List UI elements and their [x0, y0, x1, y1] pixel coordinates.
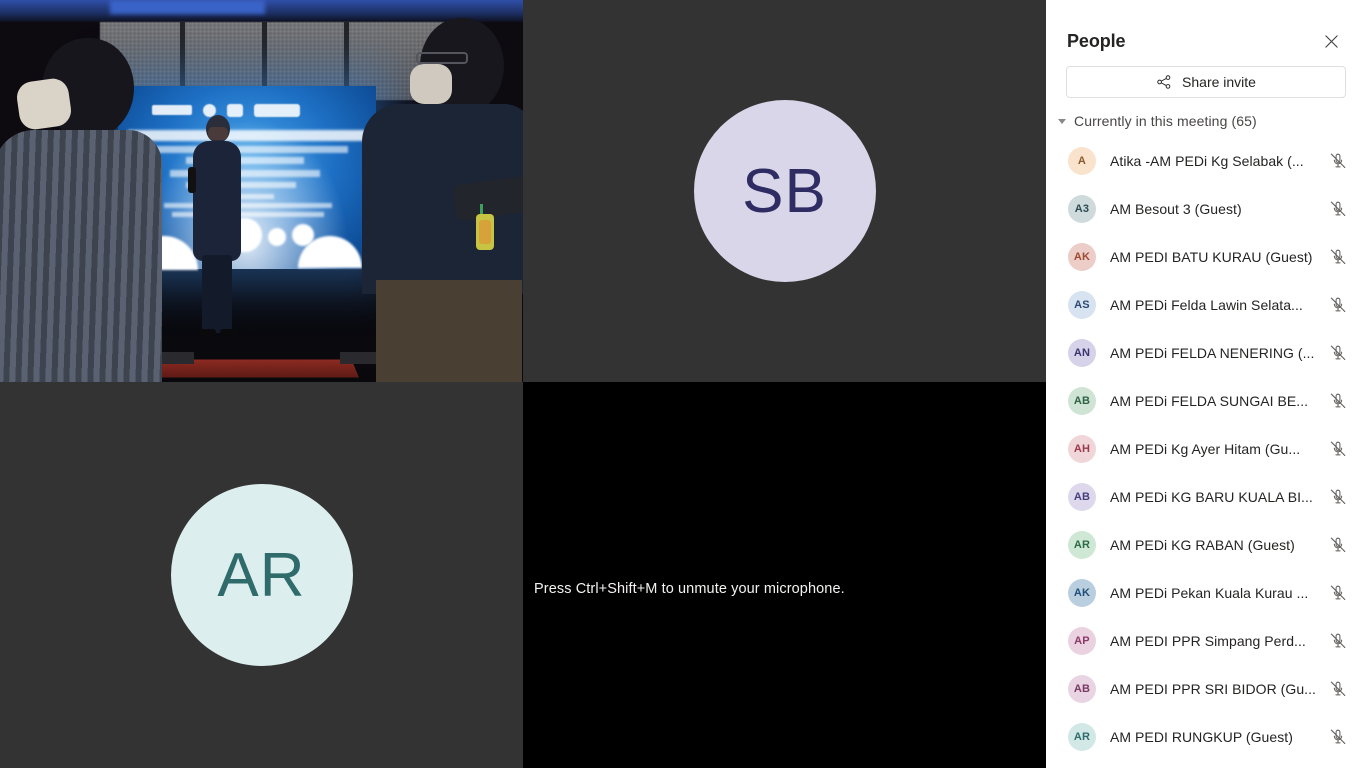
slide-text-line [148, 146, 348, 153]
video-tile-sb[interactable]: SB [523, 0, 1046, 382]
close-panel-button[interactable] [1317, 28, 1345, 56]
participant-row-4[interactable]: AN AM PEDi FELDA NENERING (... [1046, 329, 1366, 377]
participant-name: Atika -AM PEDi Kg Selabak (... [1110, 153, 1328, 169]
presenter-shoe [220, 329, 238, 336]
meeting-window: SB AR Press Ctrl+Shift+M to unmute your … [0, 0, 1366, 768]
video-tile-ar[interactable]: AR [0, 382, 523, 768]
avatar: AH [1068, 435, 1096, 463]
participant-row-12[interactable]: AR AM PEDI RUNGKUP (Guest) [1046, 713, 1366, 761]
participant-row-3[interactable]: AS AM PEDi Felda Lawin Selata... [1046, 281, 1366, 329]
presenter-mask [208, 127, 228, 140]
share-icon [1156, 74, 1172, 90]
video-stage: SB AR Press Ctrl+Shift+M to unmute your … [0, 0, 1046, 768]
chevron-down-icon [1058, 119, 1066, 124]
close-icon [1324, 34, 1339, 49]
participant-row-6[interactable]: AH AM PEDi Kg Ayer Hitam (Gu... [1046, 425, 1366, 473]
presenter-legs [202, 255, 232, 333]
avatar-initials: AN [1074, 347, 1090, 359]
participants-list[interactable]: A Atika -AM PEDi Kg Selabak (... A3 AM B… [1046, 137, 1366, 768]
avatar-initials: AP [1074, 635, 1090, 647]
avatar: AR [171, 484, 353, 666]
people-panel-header: People [1046, 0, 1366, 58]
participant-name: AM Besout 3 (Guest) [1110, 201, 1328, 217]
attendee-mask [15, 77, 73, 132]
people-panel: People Share invite Currently in this [1046, 0, 1366, 768]
avatar: AR [1068, 723, 1096, 751]
participant-name: AM PEDI PPR SRI BIDOR (Gu... [1110, 681, 1328, 697]
presenter-shoe [198, 329, 216, 336]
participant-row-2[interactable]: AK AM PEDI BATU KURAU (Guest) [1046, 233, 1366, 281]
section-currently-in-meeting[interactable]: Currently in this meeting (65) [1046, 98, 1366, 137]
avatar-initials: A3 [1075, 203, 1089, 215]
scene-attendee-left [0, 38, 175, 382]
mic-muted-icon[interactable] [1328, 391, 1348, 411]
attendee-mask [410, 64, 452, 104]
mic-muted-icon[interactable] [1328, 199, 1348, 219]
avatar: SB [694, 100, 876, 282]
attendee-pants [376, 280, 522, 382]
avatar-initials: A [1078, 155, 1086, 167]
camera-feed-image [0, 0, 523, 382]
participant-name: AM PEDi FELDA NENERING (... [1110, 345, 1328, 361]
scene-attendee-right [358, 18, 523, 382]
participant-row-11[interactable]: AB AM PEDI PPR SRI BIDOR (Gu... [1046, 665, 1366, 713]
participant-name: AM PEDi Pekan Kuala Kurau ... [1110, 585, 1328, 601]
slide-cloud [268, 228, 286, 246]
scene-presenter [188, 115, 246, 330]
mic-muted-icon[interactable] [1328, 535, 1348, 555]
avatar: AR [1068, 531, 1096, 559]
presenter-body [193, 141, 241, 261]
participant-row-9[interactable]: AK AM PEDi Pekan Kuala Kurau ... [1046, 569, 1366, 617]
participant-row-0[interactable]: A Atika -AM PEDi Kg Selabak (... [1046, 137, 1366, 185]
mic-muted-icon[interactable] [1328, 487, 1348, 507]
presenter-microphone [188, 167, 196, 193]
share-invite-label: Share invite [1182, 74, 1256, 90]
avatar-initials: AB [1074, 683, 1090, 695]
avatar: A3 [1068, 195, 1096, 223]
avatar: AP [1068, 627, 1096, 655]
participant-name: AM PEDi Felda Lawin Selata... [1110, 297, 1328, 313]
mic-muted-icon[interactable] [1328, 727, 1348, 747]
participant-row-7[interactable]: AB AM PEDi KG BARU KUALA BI... [1046, 473, 1366, 521]
unmute-hint-text: Press Ctrl+Shift+M to unmute your microp… [534, 581, 845, 597]
section-label: Currently in this meeting (65) [1074, 113, 1257, 129]
participant-name: AM PEDi KG BARU KUALA BI... [1110, 489, 1328, 505]
share-invite-container: Share invite [1046, 58, 1366, 98]
avatar: AS [1068, 291, 1096, 319]
avatar: A [1068, 147, 1096, 175]
participant-row-8[interactable]: AR AM PEDi KG RABAN (Guest) [1046, 521, 1366, 569]
participant-row-10[interactable]: AP AM PEDI PPR Simpang Perd... [1046, 617, 1366, 665]
avatar-initials: AB [1074, 491, 1090, 503]
participant-name: AM PEDI RUNGKUP (Guest) [1110, 729, 1328, 745]
participant-row-5[interactable]: AB AM PEDi FELDA SUNGAI BE... [1046, 377, 1366, 425]
scene-ceiling-light [110, 0, 265, 14]
avatar-initials: AS [1074, 299, 1090, 311]
avatar-initials: AK [1074, 587, 1090, 599]
video-tile-camera-feed[interactable] [0, 0, 523, 382]
slide-logo-row [152, 104, 342, 116]
video-tile-self[interactable]: Press Ctrl+Shift+M to unmute your microp… [523, 382, 1046, 768]
participant-name: AM PEDI PPR Simpang Perd... [1110, 633, 1328, 649]
avatar-initials: SB [742, 156, 827, 227]
avatar: AK [1068, 579, 1096, 607]
attendee-sanitizer-tag [476, 214, 494, 250]
avatar: AK [1068, 243, 1096, 271]
mic-muted-icon[interactable] [1328, 583, 1348, 603]
mic-muted-icon[interactable] [1328, 679, 1348, 699]
page-title: People [1067, 31, 1125, 52]
avatar-initials: AH [1074, 443, 1090, 455]
avatar: AB [1068, 675, 1096, 703]
mic-muted-icon[interactable] [1328, 631, 1348, 651]
participant-row-1[interactable]: A3 AM Besout 3 (Guest) [1046, 185, 1366, 233]
share-invite-button[interactable]: Share invite [1066, 66, 1346, 98]
avatar-initials: AR [217, 540, 305, 611]
participant-name: AM PEDi Kg Ayer Hitam (Gu... [1110, 441, 1328, 457]
mic-muted-icon[interactable] [1328, 151, 1348, 171]
participant-name: AM PEDi FELDA SUNGAI BE... [1110, 393, 1328, 409]
avatar: AB [1068, 387, 1096, 415]
avatar-initials: AR [1074, 539, 1090, 551]
mic-muted-icon[interactable] [1328, 295, 1348, 315]
mic-muted-icon[interactable] [1328, 343, 1348, 363]
participant-name: AM PEDi KG RABAN (Guest) [1110, 537, 1328, 553]
mic-muted-icon[interactable] [1328, 247, 1348, 267]
participant-name: AM PEDI BATU KURAU (Guest) [1110, 249, 1328, 265]
attendee-body [0, 130, 162, 382]
avatar: AN [1068, 339, 1096, 367]
avatar: AB [1068, 483, 1096, 511]
avatar-initials: AB [1074, 395, 1090, 407]
mic-muted-icon[interactable] [1328, 439, 1348, 459]
slide-logo [254, 104, 300, 117]
avatar-initials: AR [1074, 731, 1090, 743]
attendee-glasses [416, 52, 468, 64]
avatar-initials: AK [1074, 251, 1090, 263]
